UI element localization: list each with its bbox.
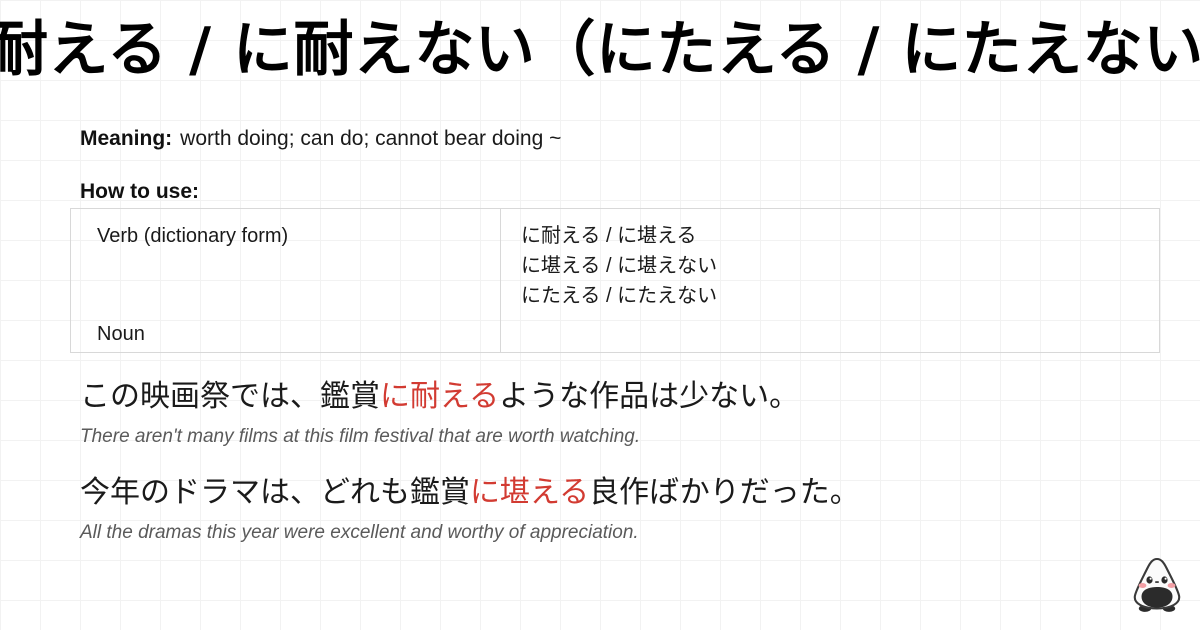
usage-table-row-noun: Noun [97, 319, 500, 349]
example-2-jp-before: 今年のドラマは、どれも鑑賞 [80, 476, 470, 509]
onigiri-mascot-icon [1128, 556, 1186, 616]
example-1-japanese: この映画祭では、鑑賞に耐えるような作品は少ない。 [80, 376, 1160, 418]
example-2-jp-highlight: に堪える [470, 476, 589, 509]
grammar-point-title-bar: 耐える / に耐えない（にたえる / にたえない [0, 0, 1200, 100]
example-1-jp-highlight: に耐える [380, 380, 499, 413]
example-sentence-2: 今年のドラマは、どれも鑑賞に堪える良作ばかりだった。 All the drama… [80, 472, 1160, 548]
usage-table-right-column: に耐える / に堪える に堪える / に堪えない にたえる / にたえない [501, 209, 1159, 352]
example-2-translation: All the dramas this year were excellent … [80, 518, 1160, 548]
page-title: 耐える / に耐えない（にたえる / にたえない [0, 20, 1200, 80]
usage-table: Verb (dictionary form) Noun に耐える / に堪える … [70, 208, 1160, 353]
usage-form-line-2: に堪える / に堪えない [521, 251, 1159, 281]
meaning-row: Meaning:worth doing; can do; cannot bear… [80, 124, 561, 154]
example-2-japanese: 今年のドラマは、どれも鑑賞に堪える良作ばかりだった。 [80, 472, 1160, 514]
how-to-use-label: How to use: [80, 178, 199, 206]
usage-table-left-column: Verb (dictionary form) Noun [71, 209, 501, 352]
meaning-value: worth doing; can do; cannot bear doing ~ [180, 127, 561, 150]
example-1-jp-after: ような作品は少ない。 [499, 380, 799, 413]
example-1-jp-before: この映画祭では、鑑賞 [80, 380, 380, 413]
usage-form-line-1: に耐える / に堪える [521, 221, 1159, 251]
lesson-card: 耐える / に耐えない（にたえる / にたえない Meaning:worth d… [0, 0, 1200, 630]
usage-form-line-3: にたえる / にたえない [521, 281, 1159, 311]
example-sentence-1: この映画祭では、鑑賞に耐えるような作品は少ない。 There aren't ma… [80, 376, 1160, 452]
meaning-label: Meaning: [80, 127, 172, 150]
example-2-jp-after: 良作ばかりだった。 [589, 476, 860, 509]
example-1-translation: There aren't many films at this film fes… [80, 422, 1160, 452]
usage-table-row-verb: Verb (dictionary form) [97, 221, 500, 251]
